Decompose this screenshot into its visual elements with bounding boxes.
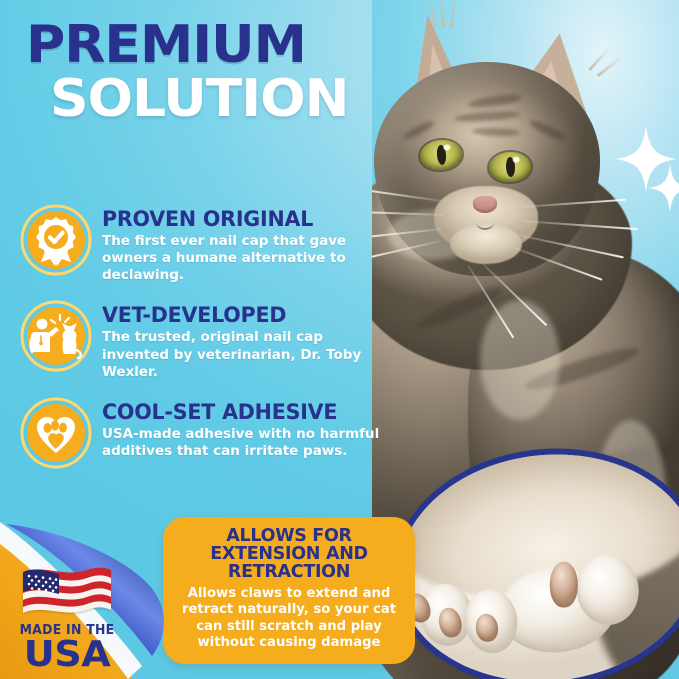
headline-line-1: PREMIUM — [26, 22, 417, 70]
feature-title: VET-DEVELOPED — [102, 305, 374, 326]
feature-text: COOL-SET ADHESIVE USA-made adhesive with… — [102, 397, 380, 460]
fur-highlight — [480, 300, 560, 420]
headline-line-2: SOLUTION — [50, 76, 417, 124]
feature-body: USA-made adhesive with no harmful additi… — [102, 426, 380, 460]
feature-list: PROVEN ORIGINAL The first ever nail cap … — [20, 204, 400, 485]
feature-item-cool-set-adhesive: COOL-SET ADHESIVE USA-made adhesive with… — [20, 397, 400, 469]
callout-body: Allows claws to extend and retract natur… — [177, 586, 401, 651]
eye-glint — [513, 156, 520, 162]
cat-paw-closeup-inset — [387, 440, 679, 679]
award-ribbon-icon — [20, 204, 92, 276]
usa-flag-icon — [21, 562, 113, 618]
page-title: PREMIUM SOLUTION — [26, 22, 406, 124]
feature-item-proven-original: PROVEN ORIGINAL The first ever nail cap … — [20, 204, 400, 284]
product-marketing-image: PREMIUM SOLUTION PROVEN ORIGINAL The fir… — [0, 0, 679, 679]
cat-mouth — [476, 214, 494, 230]
heart-paw-icon — [20, 397, 92, 469]
feature-text: VET-DEVELOPED The trusted, original nail… — [102, 300, 380, 380]
sparkle-small-icon — [648, 164, 679, 212]
feature-body: The first ever nail cap that gave owners… — [102, 233, 380, 284]
cat-chin — [450, 224, 522, 264]
usa-badge: MADE IN THE USA — [8, 562, 126, 671]
feature-title: COOL-SET ADHESIVE — [102, 402, 374, 423]
made-in-usa-line-2: USA — [4, 638, 129, 671]
vet-high-five-cat-icon — [20, 300, 92, 372]
eye-glint — [443, 144, 450, 151]
feature-item-vet-developed: VET-DEVELOPED The trusted, original nail… — [20, 300, 400, 380]
callout-title: ALLOWS FOR EXTENSION AND RETRACTION — [177, 527, 401, 581]
feature-body: The trusted, original nail cap invented … — [102, 329, 380, 380]
nail-cap — [550, 561, 578, 607]
cat-nose — [473, 196, 497, 213]
feature-text: PROVEN ORIGINAL The first ever nail cap … — [102, 204, 380, 284]
feature-title: PROVEN ORIGINAL — [102, 209, 374, 230]
made-in-usa-corner: MADE IN THE USA — [0, 470, 210, 679]
